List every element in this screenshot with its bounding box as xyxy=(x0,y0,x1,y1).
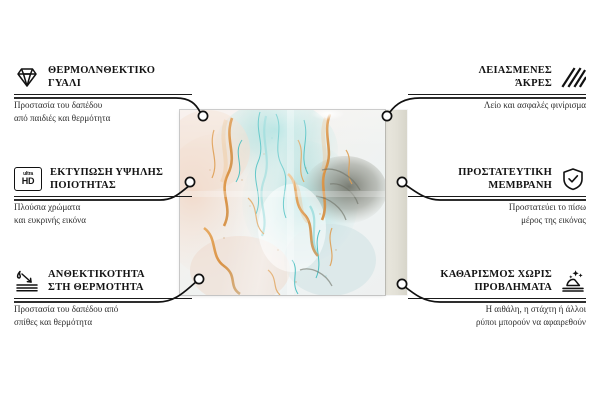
feature-head: ΚΑΘΑΡΙΣΜΟΣ ΧΩΡΙΣ ΠΡΟΒΛΗΜΑΤΑ xyxy=(408,268,586,294)
feature-title: ΠΡΟΣΤΑΤΕΥΤΙΚΗ ΜΕΜΒΡΑΝΗ xyxy=(458,166,552,192)
infographic-canvas: ΘΕΡΜΟΛΝΘΕΚΤΙΚΟ ΓΥΑΛΙ Προστασία του δαπέδ… xyxy=(0,0,600,400)
feature-title: ΚΑΘΑΡΙΣΜΟΣ ΧΩΡΙΣ ΠΡΟΒΛΗΜΑΤΑ xyxy=(440,268,552,294)
connector-dot xyxy=(397,177,406,186)
flame-deflect-icon xyxy=(14,269,40,293)
feature-protective-membrane: ΠΡΟΣΤΑΤΕΥΤΙΚΗ ΜΕΜΒΡΑΝΗ Προστατεύει το πί… xyxy=(408,166,586,226)
divider xyxy=(408,196,586,197)
feature-head: ultra HD ΕΚΤΥΠΩΣΗ ΥΨΗΛΗΣ ΠΟΙΟΤΗΤΑΣ xyxy=(14,166,192,192)
ultra-hd-icon: ultra HD xyxy=(14,167,42,191)
feature-title: ΑΝΘΕΚΤΙΚΟΤΗΤΑ ΣΤΗ ΘΕΡΜΟΤΗΤΑ xyxy=(48,268,145,294)
feature-head: ΘΕΡΜΟΛΝΘΕΚΤΙΚΟ ΓΥΑΛΙ xyxy=(14,64,192,90)
feature-head: ΛΕΙΑΣΜΕΝΕΣ ΆΚΡΕΣ xyxy=(408,64,586,90)
connector-dot xyxy=(198,111,207,120)
divider xyxy=(408,94,586,95)
diagonal-stripes-icon xyxy=(560,65,586,89)
feature-head: ΑΝΘΕΚΤΙΚΟΤΗΤΑ ΣΤΗ ΘΕΡΜΟΤΗΤΑ xyxy=(14,268,192,294)
feature-title: ΕΚΤΥΠΩΣΗ ΥΨΗΛΗΣ ΠΟΙΟΤΗΤΑΣ xyxy=(50,166,163,192)
feature-easy-cleaning: ΚΑΘΑΡΙΣΜΟΣ ΧΩΡΙΣ ΠΡΟΒΛΗΜΑΤΑ xyxy=(408,268,586,328)
connector-dot xyxy=(194,274,203,283)
feature-description: Προστασία του δαπέδου από παιδιές και θε… xyxy=(14,99,192,124)
feature-description: Πλούσια χρώματα και ευκρινής εικόνα xyxy=(14,201,192,226)
feature-description: Η αιθάλη, η στάχτη ή άλλοι ρύποι μπορούν… xyxy=(408,303,586,328)
connector-dot xyxy=(382,111,391,120)
feature-heat-resistant-glass: ΘΕΡΜΟΛΝΘΕΚΤΙΚΟ ΓΥΑΛΙ Προστασία του δαπέδ… xyxy=(14,64,192,124)
ultra-hd-bottom-text: HD xyxy=(22,177,34,186)
sparkle-wipe-icon xyxy=(560,269,586,293)
feature-polished-edges: ΛΕΙΑΣΜΕΝΕΣ ΆΚΡΕΣ Λείο και ασφαλές φινίρι… xyxy=(408,64,586,112)
connector-dot xyxy=(397,279,406,288)
diamond-icon xyxy=(14,65,40,89)
feature-description: Προστασία του δαπέδου από σπίθες και θερ… xyxy=(14,303,192,328)
divider xyxy=(14,196,192,197)
feature-description: Λείο και ασφαλές φινίρισμα xyxy=(408,99,586,111)
feature-title: ΘΕΡΜΟΛΝΘΕΚΤΙΚΟ ΓΥΑΛΙ xyxy=(48,64,155,90)
divider xyxy=(14,298,192,299)
feature-head: ΠΡΟΣΤΑΤΕΥΤΙΚΗ ΜΕΜΒΡΑΝΗ xyxy=(408,166,586,192)
feature-description: Προστατεύει το πίσω μέρος της εικόνας xyxy=(408,201,586,226)
divider xyxy=(408,298,586,299)
divider xyxy=(14,94,192,95)
shield-check-icon xyxy=(560,167,586,191)
feature-high-quality-print: ultra HD ΕΚΤΥΠΩΣΗ ΥΨΗΛΗΣ ΠΟΙΟΤΗΤΑΣ Πλούσ… xyxy=(14,166,192,226)
feature-heat-durability: ΑΝΘΕΚΤΙΚΟΤΗΤΑ ΣΤΗ ΘΕΡΜΟΤΗΤΑ Προστασία το… xyxy=(14,268,192,328)
feature-title: ΛΕΙΑΣΜΕΝΕΣ ΆΚΡΕΣ xyxy=(479,64,552,90)
